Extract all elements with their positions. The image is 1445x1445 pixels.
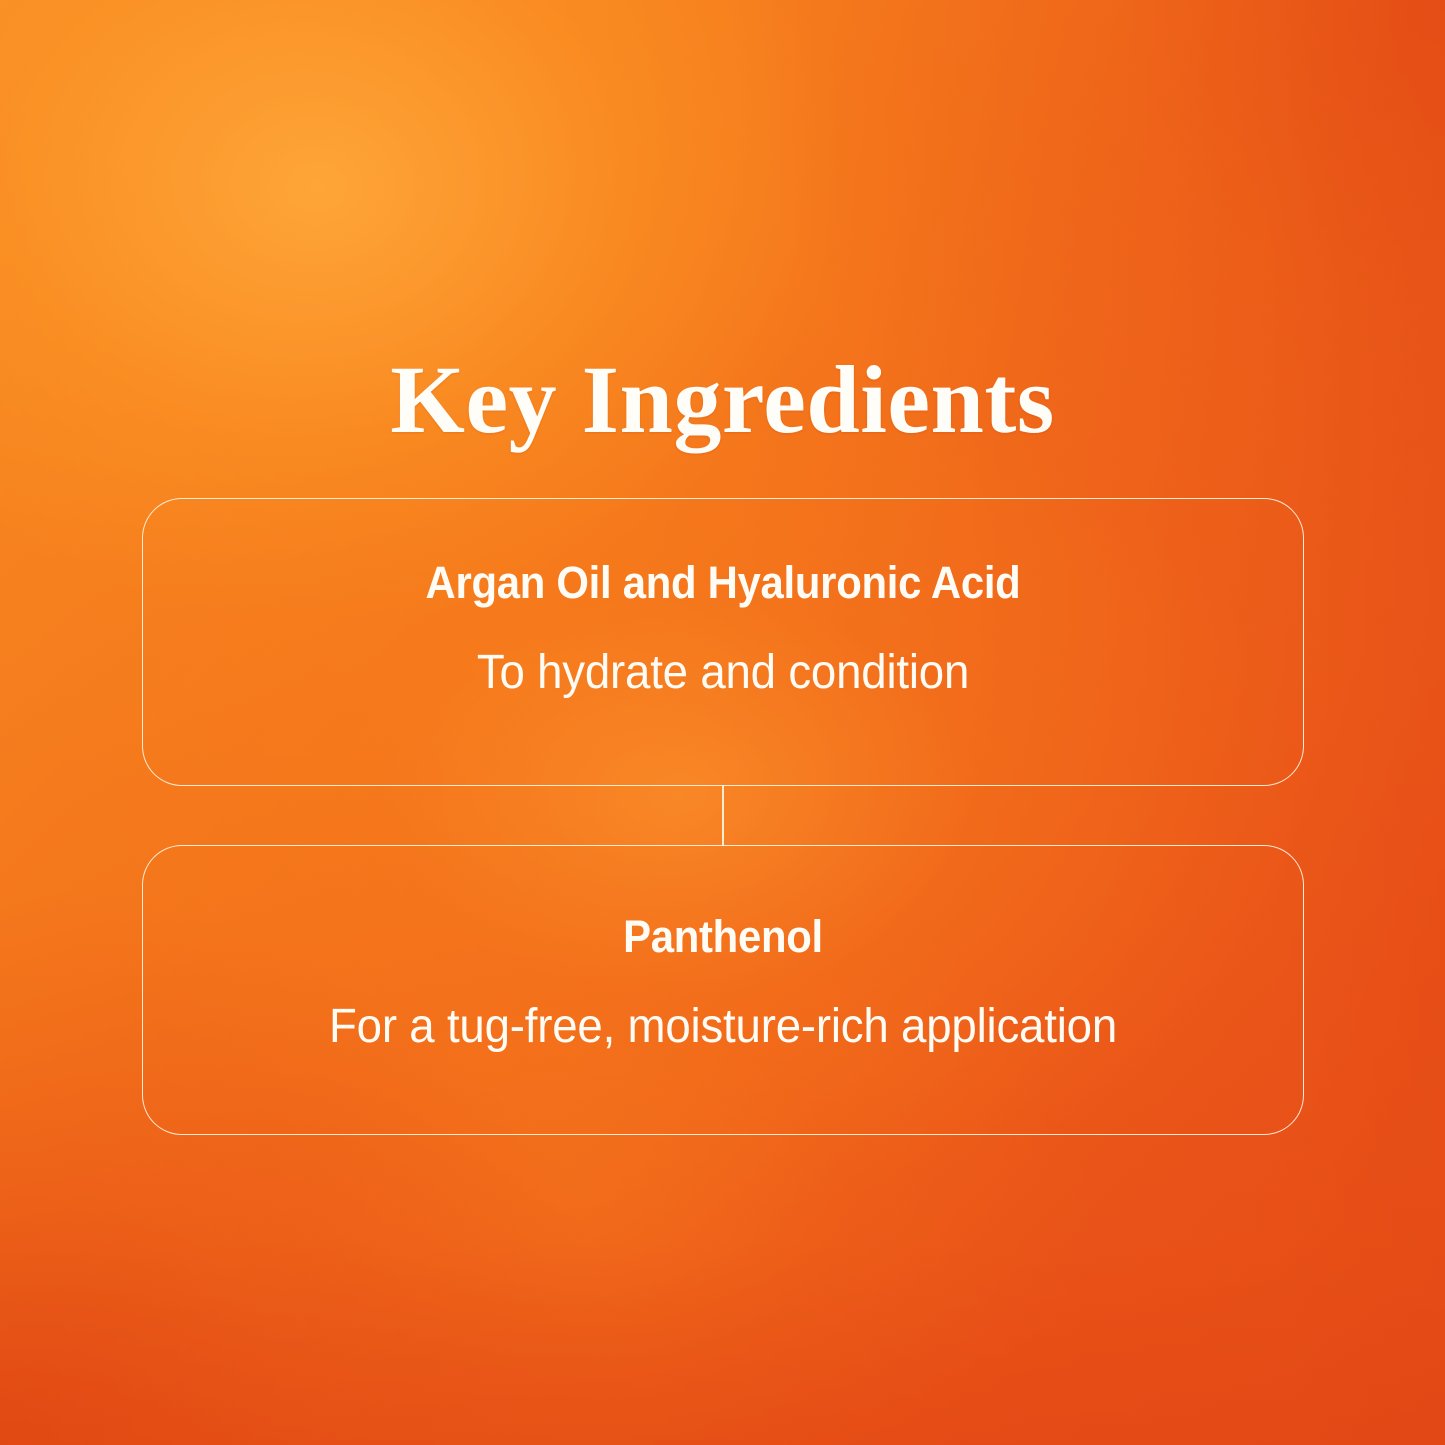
ingredient-card-subtitle: To hydrate and condition [172, 649, 1274, 697]
ingredient-card-title: Panthenol [184, 914, 1263, 959]
page-title: Key Ingredients [0, 352, 1445, 448]
ingredient-card-content: Panthenol For a tug-free, moisture-rich … [143, 914, 1303, 1051]
ingredient-card-content: Argan Oil and Hyaluronic Acid To hydrate… [143, 560, 1303, 697]
ingredient-card-argan-oil-hyaluronic-acid: Argan Oil and Hyaluronic Acid To hydrate… [142, 498, 1304, 786]
ingredient-card-panthenol: Panthenol For a tug-free, moisture-rich … [142, 845, 1304, 1135]
ingredient-card-title: Argan Oil and Hyaluronic Acid [184, 560, 1263, 605]
ingredient-card-subtitle: For a tug-free, moisture-rich applicatio… [172, 1003, 1274, 1051]
key-ingredients-poster: Key Ingredients Argan Oil and Hyaluronic… [0, 0, 1445, 1445]
card-connector-line [722, 786, 724, 846]
